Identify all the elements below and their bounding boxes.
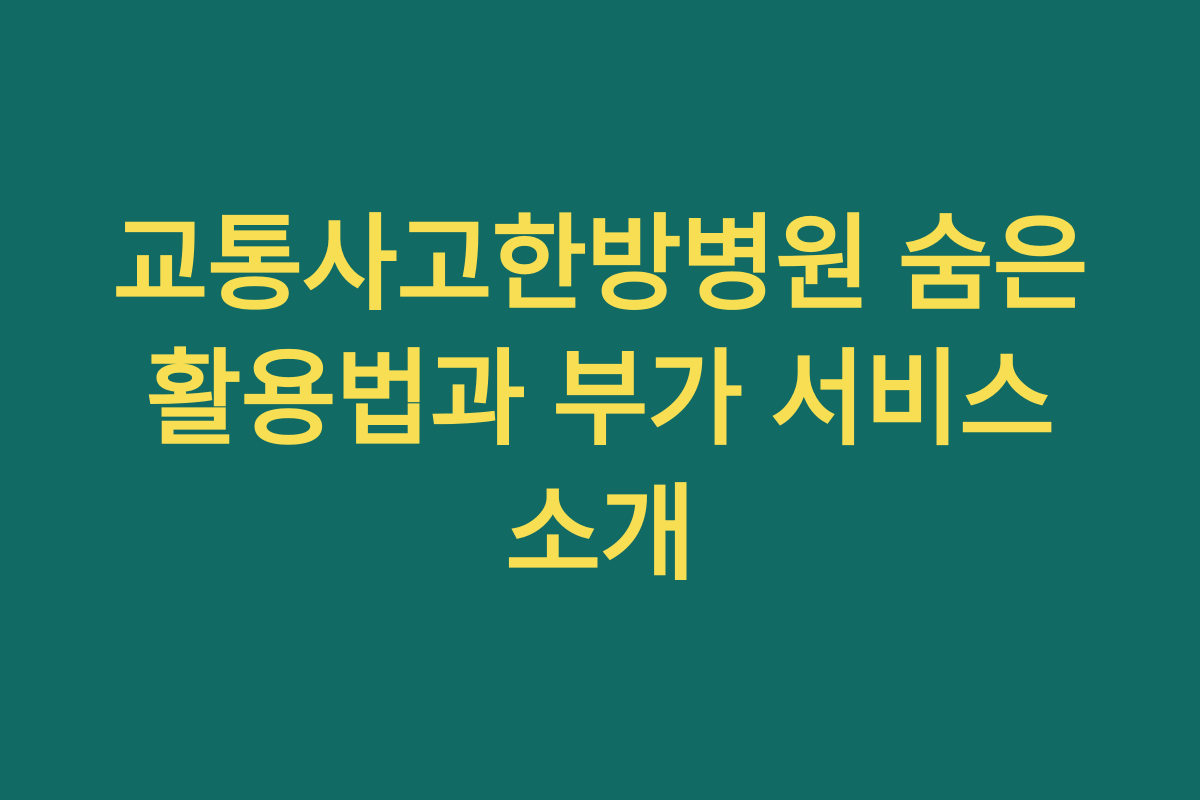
text-banner: 교통사고한방병원 숨은 활용법과 부가 서비스 소개 (0, 0, 1200, 800)
page-title: 교통사고한방병원 숨은 활용법과 부가 서비스 소개 (70, 198, 1130, 603)
title-block: 교통사고한방병원 숨은 활용법과 부가 서비스 소개 (70, 198, 1130, 603)
